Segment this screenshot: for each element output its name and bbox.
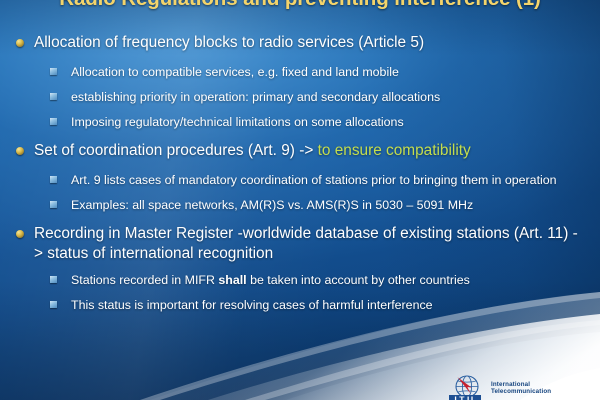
bullet-text-highlight: to ensure compatibility: [318, 142, 471, 159]
bullet-level2: This status is important for resolving c…: [0, 297, 600, 313]
bullet-level2: Art. 9 lists cases of mandatory coordina…: [0, 172, 600, 188]
bullet-level2-text: Allocation to compatible services, e.g. …: [71, 64, 576, 80]
blue-square-bullet-icon: [50, 93, 57, 100]
blue-square-bullet-icon: [50, 176, 57, 183]
bullet-level2-text: Stations recorded in MIFR shall be taken…: [71, 272, 576, 288]
bullet-level2-text: Imposing regulatory/technical limitation…: [71, 114, 576, 130]
blue-square-bullet-icon: [50, 276, 57, 283]
bullet-level2-text: Art. 9 lists cases of mandatory coordina…: [71, 172, 576, 188]
bullet-group-3: Recording in Master Register -worldwide …: [0, 224, 600, 313]
bullet-level2-text: This status is important for resolving c…: [71, 297, 576, 313]
bullet-level1: Allocation of frequency blocks to radio …: [0, 33, 600, 55]
itu-logo-line1: International: [491, 381, 551, 388]
bullet-level2: establishing priority in operation: prim…: [0, 89, 600, 105]
gold-bullet-icon: [16, 39, 24, 47]
bullet-level1-text: Allocation of frequency blocks to radio …: [34, 33, 586, 53]
blue-square-bullet-icon: [50, 201, 57, 208]
bullet-text-plain: Set of coordination procedures (Art. 9) …: [34, 142, 318, 159]
gold-bullet-icon: [16, 230, 24, 238]
sub-text-bold: shall: [218, 273, 246, 287]
bullet-level1-text: Recording in Master Register -worldwide …: [34, 224, 586, 263]
slide-title: Radio Regulations and preventing interfe…: [0, 0, 600, 11]
slide-body: Allocation of frequency blocks to radio …: [0, 33, 600, 324]
slide-title-text: Radio Regulations and preventing interfe…: [0, 0, 600, 11]
presentation-slide: Radio Regulations and preventing interfe…: [0, 0, 600, 400]
bullet-level1: Set of coordination procedures (Art. 9) …: [0, 141, 600, 163]
sub-text-post: be taken into account by other countries: [247, 273, 470, 287]
itu-logo-text: International Telecommunication: [491, 374, 551, 395]
bullet-level2: Allocation to compatible services, e.g. …: [0, 64, 600, 80]
itu-globe-icon: ITU: [443, 374, 487, 400]
blue-square-bullet-icon: [50, 118, 57, 125]
bullet-group-2: Set of coordination procedures (Art. 9) …: [0, 141, 600, 213]
bullet-level2: Examples: all space networks, AM(R)S vs.…: [0, 197, 600, 213]
bullet-level2-text: establishing priority in operation: prim…: [71, 89, 576, 105]
itu-logo-line2: Telecommunication: [491, 388, 551, 395]
bullet-level2: Imposing regulatory/technical limitation…: [0, 114, 600, 130]
sub-text-pre: Stations recorded in MIFR: [71, 273, 218, 287]
bullet-level2: Stations recorded in MIFR shall be taken…: [0, 272, 600, 288]
svg-text:ITU: ITU: [454, 394, 475, 400]
blue-square-bullet-icon: [50, 68, 57, 75]
itu-logo: ITU International Telecommunication: [443, 374, 551, 400]
bullet-level1-text: Set of coordination procedures (Art. 9) …: [34, 141, 586, 161]
blue-square-bullet-icon: [50, 301, 57, 308]
bullet-level1: Recording in Master Register -worldwide …: [0, 224, 600, 263]
gold-bullet-icon: [16, 147, 24, 155]
bullet-group-1: Allocation of frequency blocks to radio …: [0, 33, 600, 130]
bullet-level2-text: Examples: all space networks, AM(R)S vs.…: [71, 197, 576, 213]
